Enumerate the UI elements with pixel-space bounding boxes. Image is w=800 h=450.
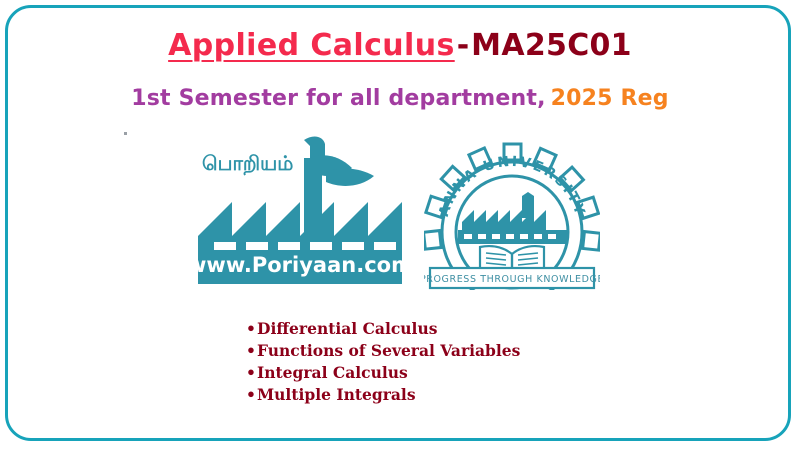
bullet-glyph: • xyxy=(246,318,257,340)
bullet-glyph: • xyxy=(246,362,257,384)
logo-band: www.Poriyaan.com பொறியம் xyxy=(0,128,800,298)
anna-arc-text: ANNA UNIVERSITY xyxy=(436,154,588,219)
slide-page: Applied Calculus-MA25C01 1st Semester fo… xyxy=(0,0,800,450)
title-separator: - xyxy=(455,28,471,63)
bullet-glyph: • xyxy=(246,384,257,406)
list-item-label: Integral Calculus xyxy=(257,363,408,382)
list-item: •Functions of Several Variables xyxy=(246,340,666,362)
anna-motto-text: PROGRESS THROUGH KNOWLEDGE xyxy=(424,274,600,285)
poriyaan-website-text: www.Poriyaan.com xyxy=(192,253,412,277)
anna-inner-scene xyxy=(458,192,570,244)
bullet-glyph: • xyxy=(246,340,257,362)
title-subject: Applied Calculus xyxy=(168,28,455,63)
list-item: •Integral Calculus xyxy=(246,362,666,384)
anna-university-logo: ANNA UNIVERSITY xyxy=(424,142,600,290)
subtitle-semester: 1st Semester for all department, xyxy=(131,86,545,111)
list-item: •Differential Calculus xyxy=(246,318,666,340)
list-item-label: Differential Calculus xyxy=(257,319,437,338)
list-item-label: Multiple Integrals xyxy=(257,385,416,404)
page-title: Applied Calculus-MA25C01 xyxy=(0,28,800,63)
list-item: •Multiple Integrals xyxy=(246,384,666,406)
anna-motto-banner: PROGRESS THROUGH KNOWLEDGE xyxy=(424,268,600,288)
subtitle-regulation: 2025 Reg xyxy=(546,86,669,111)
page-subtitle: 1st Semester for all department,2025 Reg xyxy=(0,86,800,111)
topics-list: •Differential Calculus •Functions of Sev… xyxy=(246,318,666,406)
list-item-label: Functions of Several Variables xyxy=(257,341,520,360)
title-course-code: MA25C01 xyxy=(471,28,632,63)
poriyaan-tamil-wordmark: பொறியம் xyxy=(202,151,293,175)
poriyaan-logo: www.Poriyaan.com பொறியம் xyxy=(192,132,412,292)
